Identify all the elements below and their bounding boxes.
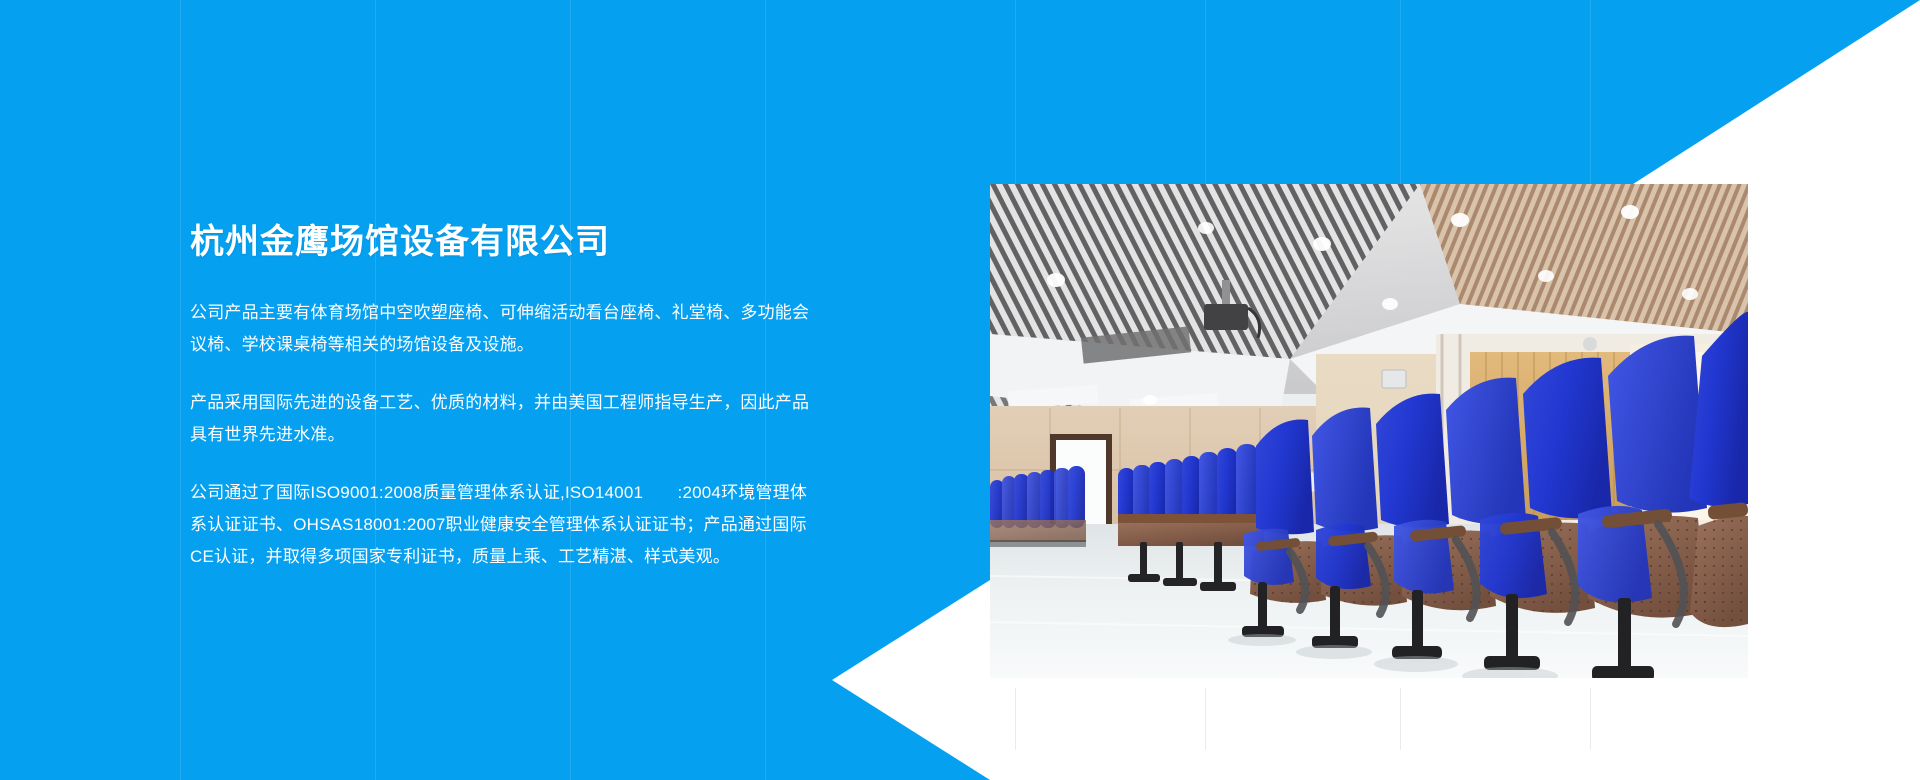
hero-banner: 杭州金鹰场馆设备有限公司 公司产品主要有体育场馆中空吹塑座椅、可伸缩活动看台座椅…	[0, 0, 1920, 780]
white-column-rule	[1590, 688, 1591, 750]
auditorium-illustration	[990, 184, 1748, 678]
auditorium-seating-photo	[990, 184, 1748, 678]
company-products-paragraph: 公司产品主要有体育场馆中空吹塑座椅、可伸缩活动看台座椅、礼堂椅、多功能会议椅、学…	[190, 297, 810, 361]
hero-copy: 杭州金鹰场馆设备有限公司 公司产品主要有体育场馆中空吹塑座椅、可伸缩活动看台座椅…	[190, 222, 810, 573]
white-column-rule	[1205, 688, 1206, 750]
right-white-block	[1748, 184, 1920, 780]
page-title: 杭州金鹰场馆设备有限公司	[190, 222, 810, 263]
company-certification-paragraph: 公司通过了国际ISO9001:2008质量管理体系认证,ISO14001 :20…	[190, 477, 810, 573]
column-rule	[180, 0, 181, 780]
company-quality-paragraph: 产品采用国际先进的设备工艺、优质的材料，并由美国工程师指导生产，因此产品具有世界…	[190, 387, 810, 451]
white-column-rule	[1400, 688, 1401, 750]
white-column-rule	[1015, 688, 1016, 750]
